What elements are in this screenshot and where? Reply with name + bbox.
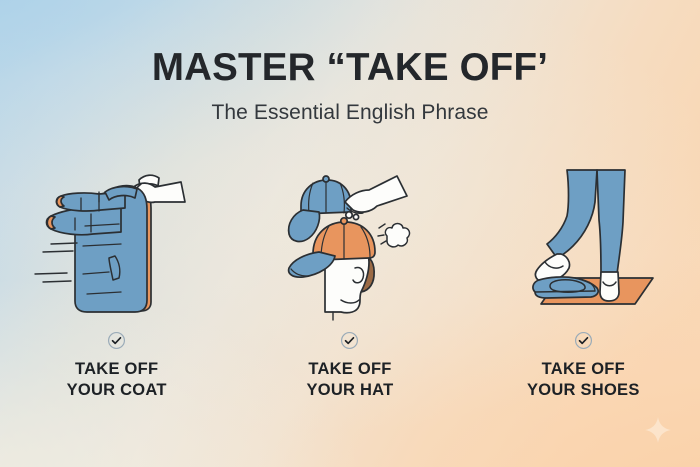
coat-illustration-wrapper <box>0 160 233 322</box>
caption-coat-line2: YOUR COAT <box>67 380 167 401</box>
caption-hat: TAKE OFF YOUR HAT <box>307 359 394 401</box>
panels-row: TAKE OFF YOUR COAT <box>0 160 700 410</box>
hand-lifting-cap-off-head-illustration <box>275 162 425 322</box>
caption-shoes: TAKE OFF YOUR SHOES <box>527 359 640 401</box>
legs-stepping-out-of-shoes-on-mat-illustration <box>501 162 666 322</box>
hat-illustration-wrapper <box>233 160 466 322</box>
page-subtitle: The Essential English Phrase <box>0 88 700 124</box>
panel-coat: TAKE OFF YOUR COAT <box>0 160 233 410</box>
caption-shoes-line1: TAKE OFF <box>527 359 640 380</box>
check-circle-icon <box>107 331 126 350</box>
panel-hat: TAKE OFF YOUR HAT <box>233 160 466 410</box>
check-circle-icon <box>340 331 359 350</box>
check-circle-icon <box>574 331 593 350</box>
poster-header: MASTER “TAKE OFF’ The Essential English … <box>0 0 700 124</box>
shoes-illustration-wrapper <box>467 160 700 322</box>
caption-hat-line1: TAKE OFF <box>307 359 394 380</box>
four-point-sparkle-icon <box>643 415 673 445</box>
caption-shoes-line2: YOUR SHOES <box>527 380 640 401</box>
caption-hat-line2: YOUR HAT <box>307 380 394 401</box>
poster-canvas: MASTER “TAKE OFF’ The Essential English … <box>0 0 700 467</box>
panel-shoes: TAKE OFF YOUR SHOES <box>467 160 700 410</box>
caption-coat-line1: TAKE OFF <box>67 359 167 380</box>
caption-coat: TAKE OFF YOUR COAT <box>67 359 167 401</box>
page-title: MASTER “TAKE OFF’ <box>0 0 700 88</box>
blue-puffer-coat-held-by-hand-illustration <box>29 162 205 322</box>
